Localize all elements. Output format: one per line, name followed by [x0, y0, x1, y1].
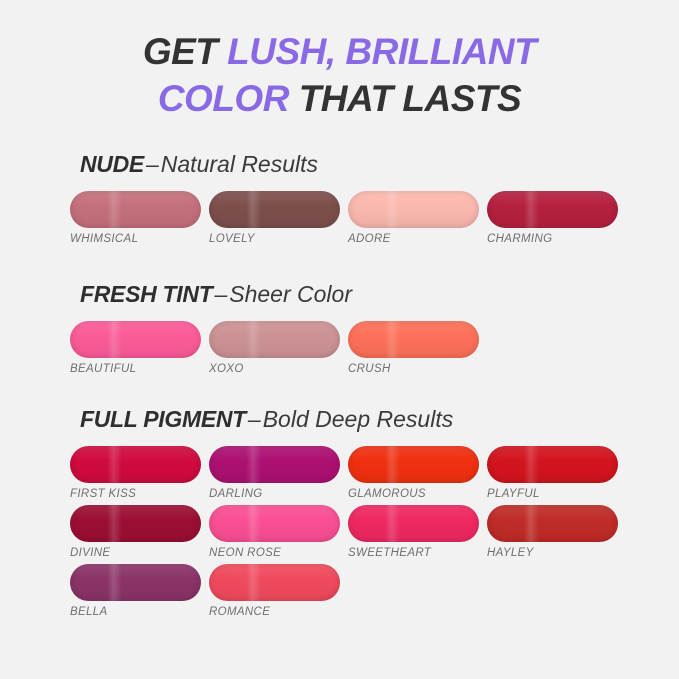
swatch-label: NEON ROSE — [209, 547, 343, 559]
color-swatch[interactable] — [70, 191, 201, 228]
section-subtitle: Natural Results — [161, 151, 318, 177]
swatch-label: SWEETHEART — [348, 547, 482, 559]
headline-line-1: GET LUSH, BRILLIANT — [0, 28, 679, 75]
swatch-cell[interactable]: FIRST KISS — [70, 446, 204, 500]
section-title: NUDE — [80, 151, 144, 177]
swatch-grid-fresh-tint: BEAUTIFUL XOXO CRUSH — [70, 321, 610, 375]
swatch-label: ADORE — [348, 233, 482, 245]
swatch-grid-full-pigment: FIRST KISS DARLING GLAMOROUS PLAYFUL DIV… — [70, 446, 610, 618]
headline-text-that-lasts: THAT LASTS — [289, 78, 521, 119]
swatch-label: CRUSH — [348, 363, 482, 375]
swatch-cell[interactable]: ROMANCE — [209, 564, 343, 618]
swatch-label: BELLA — [70, 606, 204, 618]
section-header-full-pigment: FULL PIGMENT–Bold Deep Results — [80, 407, 679, 432]
swatch-cell[interactable]: GLAMOROUS — [348, 446, 482, 500]
section-subtitle: Sheer Color — [229, 281, 352, 307]
section-full-pigment: FULL PIGMENT–Bold Deep Results FIRST KIS… — [0, 407, 679, 618]
page-headline: GET LUSH, BRILLIANT COLOR THAT LASTS — [0, 28, 679, 123]
swatch-label: HAYLEY — [487, 547, 621, 559]
swatch-cell[interactable]: HAYLEY — [487, 505, 621, 559]
swatch-label: ROMANCE — [209, 606, 343, 618]
color-swatch[interactable] — [348, 191, 479, 228]
section-title: FRESH TINT — [80, 281, 212, 307]
swatch-label: FIRST KISS — [70, 488, 204, 500]
swatch-cell[interactable]: PLAYFUL — [487, 446, 621, 500]
swatch-cell[interactable]: SWEETHEART — [348, 505, 482, 559]
color-swatch[interactable] — [70, 321, 201, 358]
section-nude: NUDE–Natural Results WHIMSICAL LOVELY AD… — [0, 152, 679, 245]
color-swatch[interactable] — [209, 191, 340, 228]
swatch-cell[interactable]: BELLA — [70, 564, 204, 618]
color-swatch[interactable] — [70, 564, 201, 601]
color-swatch[interactable] — [348, 505, 479, 542]
color-swatch[interactable] — [487, 446, 618, 483]
section-subtitle: Bold Deep Results — [263, 406, 454, 432]
swatch-cell[interactable]: WHIMSICAL — [70, 191, 204, 245]
swatch-cell[interactable]: XOXO — [209, 321, 343, 375]
color-swatch[interactable] — [209, 321, 340, 358]
swatch-cell[interactable]: LOVELY — [209, 191, 343, 245]
swatch-cell[interactable]: NEON ROSE — [209, 505, 343, 559]
swatch-label: LOVELY — [209, 233, 343, 245]
section-dash: – — [212, 281, 229, 307]
swatch-cell[interactable]: DIVINE — [70, 505, 204, 559]
swatch-grid-nude: WHIMSICAL LOVELY ADORE CHARMING — [70, 191, 610, 245]
color-swatch[interactable] — [348, 321, 479, 358]
swatch-cell[interactable]: CRUSH — [348, 321, 482, 375]
swatch-label: DARLING — [209, 488, 343, 500]
section-header-fresh-tint: FRESH TINT–Sheer Color — [80, 282, 679, 307]
headline-accent-color: COLOR — [158, 78, 289, 119]
headline-text-get: GET — [143, 31, 227, 72]
swatch-label: GLAMOROUS — [348, 488, 482, 500]
color-swatch[interactable] — [487, 505, 618, 542]
swatch-cell[interactable]: DARLING — [209, 446, 343, 500]
headline-line-2: COLOR THAT LASTS — [0, 75, 679, 122]
swatch-label: PLAYFUL — [487, 488, 621, 500]
swatch-label: CHARMING — [487, 233, 621, 245]
color-swatch[interactable] — [70, 446, 201, 483]
section-title: FULL PIGMENT — [80, 406, 246, 432]
section-dash: – — [144, 151, 161, 177]
swatch-label: DIVINE — [70, 547, 204, 559]
color-swatch[interactable] — [70, 505, 201, 542]
swatch-label: WHIMSICAL — [70, 233, 204, 245]
section-header-nude: NUDE–Natural Results — [80, 152, 679, 177]
swatch-label: XOXO — [209, 363, 343, 375]
section-dash: – — [246, 406, 263, 432]
swatch-cell[interactable]: CHARMING — [487, 191, 621, 245]
color-swatch[interactable] — [487, 191, 618, 228]
headline-accent-lush-brilliant: LUSH, BRILLIANT — [227, 31, 536, 72]
section-fresh-tint: FRESH TINT–Sheer Color BEAUTIFUL XOXO CR… — [0, 282, 679, 375]
swatch-label: BEAUTIFUL — [70, 363, 204, 375]
color-swatch[interactable] — [348, 446, 479, 483]
color-swatch[interactable] — [209, 564, 340, 601]
swatch-cell[interactable]: BEAUTIFUL — [70, 321, 204, 375]
swatch-cell[interactable]: ADORE — [348, 191, 482, 245]
color-swatch[interactable] — [209, 446, 340, 483]
color-swatch[interactable] — [209, 505, 340, 542]
